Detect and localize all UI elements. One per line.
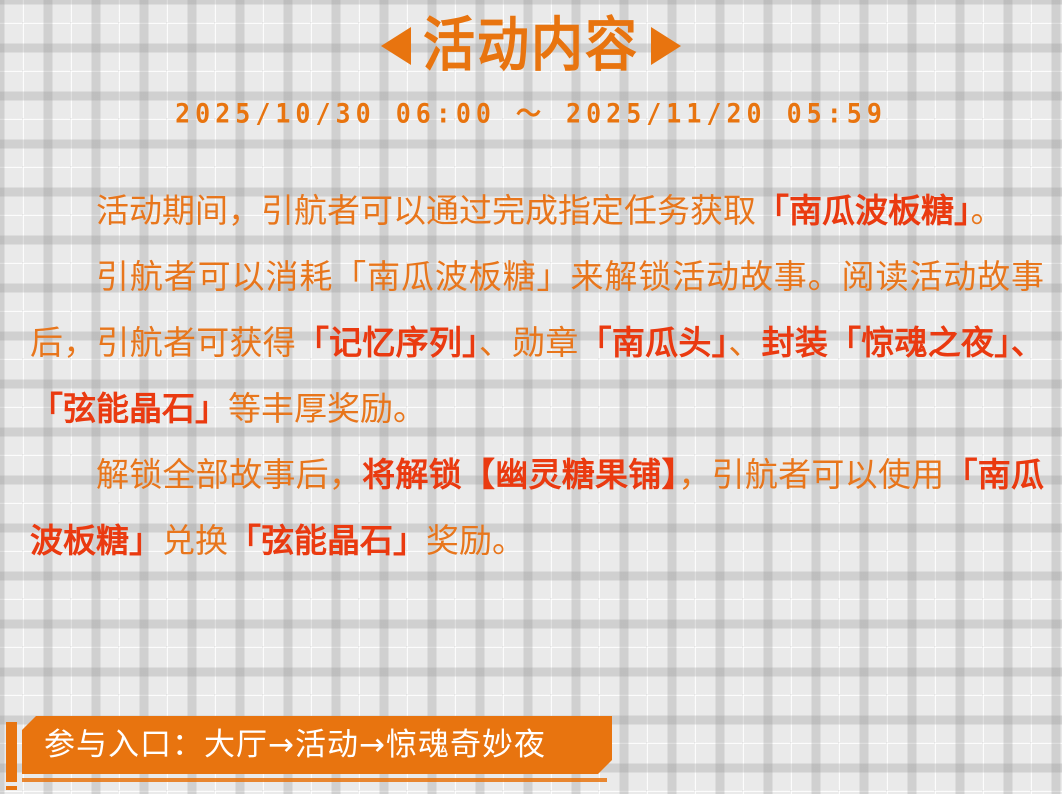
body-text: 。 [971, 191, 1004, 230]
highlight-text: 「南瓜波板糖」 [756, 191, 971, 230]
body-text: 奖励。 [426, 521, 525, 560]
triangle-left-icon [381, 27, 411, 65]
participation-entry-banner[interactable]: 参与入口：大厅→活动→惊魂奇妙夜 [22, 716, 612, 774]
body-text: 、 [728, 323, 761, 362]
participation-entry-label: 参与入口：大厅→活动→惊魂奇妙夜 [22, 730, 546, 761]
highlight-text: 「南瓜头」 [579, 323, 729, 362]
entry-banner-area: 参与入口：大厅→活动→惊魂奇妙夜 [0, 716, 1062, 794]
event-date-range: 2025/10/30 06:00 ～ 2025/11/20 05:59 [0, 93, 1062, 131]
highlight-text: 「弦能晶石」 [228, 521, 426, 560]
paragraph-2: 引航者可以消耗「南瓜波板糖」来解锁活动故事。阅读活动故事后，引航者可获得「记忆序… [30, 244, 1044, 442]
paragraph-3: 解锁全部故事后，将解锁【幽灵糖果铺】，引航者可以使用「南瓜波板糖」兑换「弦能晶石… [30, 442, 1044, 574]
activity-announcement-page: 活动内容 2025/10/30 06:00 ～ 2025/11/20 05:59… [0, 0, 1062, 794]
body-text: 等丰厚奖励。 [228, 389, 426, 428]
body-text: 解锁全部故事后， [96, 455, 362, 494]
body-text: 兑换 [162, 521, 228, 560]
page-title: 活动内容 [423, 17, 639, 75]
header: 活动内容 2025/10/30 06:00 ～ 2025/11/20 05:59 [0, 0, 1062, 130]
highlight-text: 将解锁【幽灵糖果铺】 [362, 455, 678, 494]
body-text: 活动期间，引航者可以通过完成指定任务获取 [96, 191, 756, 230]
banner-underline [22, 778, 607, 782]
body-text: 、勋章 [479, 323, 579, 362]
triangle-right-icon [651, 27, 681, 65]
title-row: 活动内容 [0, 10, 1062, 82]
banner-left-tab [6, 722, 17, 782]
body-text: ，引航者可以使用 [678, 455, 944, 494]
announcement-body: 活动期间，引航者可以通过完成指定任务获取「南瓜波板糖」。 引航者可以消耗「南瓜波… [30, 178, 1044, 574]
highlight-text: 「记忆序列」 [296, 323, 479, 362]
paragraph-1: 活动期间，引航者可以通过完成指定任务获取「南瓜波板糖」。 [30, 178, 1044, 244]
